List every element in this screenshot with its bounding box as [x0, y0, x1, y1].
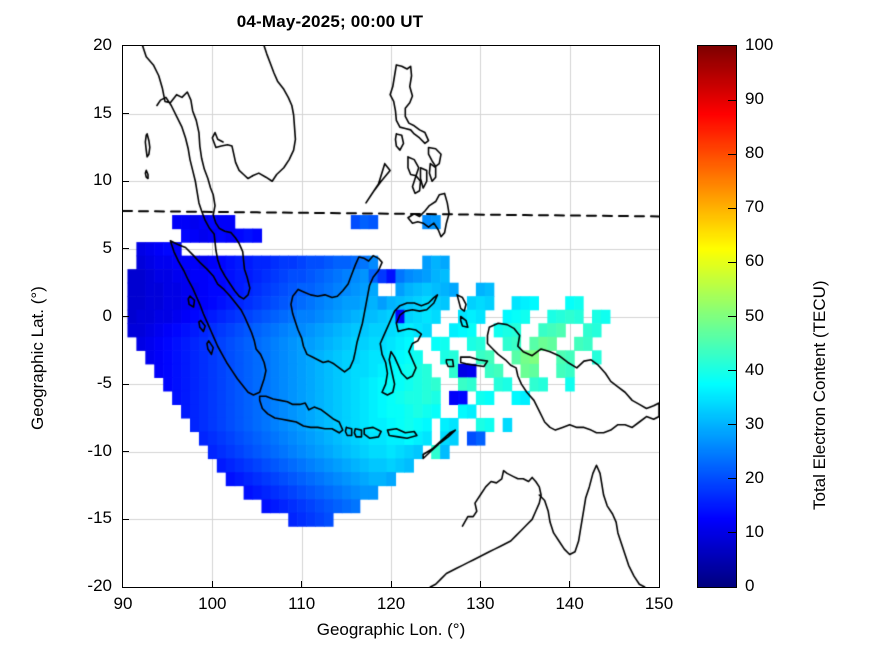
x-tick-mark — [391, 581, 392, 588]
colorbar-tick-mark — [728, 532, 736, 533]
x-tick-mark — [569, 581, 570, 588]
x-tick-label: 130 — [450, 594, 510, 614]
y-tick-mark — [122, 113, 129, 114]
colorbar-title: Total Electron Content (TECU) — [810, 280, 830, 510]
x-tick-label: 120 — [361, 594, 421, 614]
colorbar-tick-mark — [728, 100, 736, 101]
y-tick-label: -5 — [56, 373, 112, 393]
y-tick-mark — [122, 451, 129, 452]
colorbar-tick-label: 70 — [745, 197, 789, 217]
y-tick-mark — [122, 181, 129, 182]
colorbar-tick-mark — [728, 478, 736, 479]
y-tick-label: 15 — [56, 103, 112, 123]
y-tick-mark — [122, 384, 129, 385]
colorbar-tick-mark — [728, 370, 736, 371]
colorbar-tick-label: 20 — [745, 468, 789, 488]
x-tick-label: 100 — [182, 594, 242, 614]
colorbar-tick-label: 50 — [745, 306, 789, 326]
colorbar-tick-label: 90 — [745, 89, 789, 109]
y-tick-mark — [122, 316, 129, 317]
colorbar-tick-label: 60 — [745, 251, 789, 271]
colorbar-tick-label: 40 — [745, 360, 789, 380]
colorbar-tick-mark — [728, 424, 736, 425]
colorbar-tick-label: 10 — [745, 522, 789, 542]
colorbar-tick-mark — [728, 262, 736, 263]
x-axis-title: Geographic Lon. (°) — [122, 620, 660, 640]
x-tick-label: 140 — [540, 594, 600, 614]
y-tick-label: 20 — [56, 35, 112, 55]
colorbar-tick-label: 80 — [745, 143, 789, 163]
x-tick-label: 150 — [629, 594, 689, 614]
y-tick-mark — [122, 248, 129, 249]
colorbar-tick-label: 30 — [745, 414, 789, 434]
tec-heatmap-canvas — [123, 46, 659, 587]
y-tick-label: -20 — [56, 576, 112, 596]
y-tick-mark — [122, 519, 129, 520]
y-tick-label: -15 — [56, 508, 112, 528]
x-tick-mark — [480, 581, 481, 588]
y-tick-label: 5 — [56, 238, 112, 258]
y-tick-label: 0 — [56, 306, 112, 326]
colorbar-tick-mark — [728, 154, 736, 155]
y-axis-title: Geographic Lat. (°) — [28, 286, 48, 430]
y-tick-label: 10 — [56, 170, 112, 190]
colorbar-tick-label: 0 — [745, 576, 789, 596]
x-tick-label: 110 — [272, 594, 332, 614]
colorbar-tick-label: 100 — [745, 35, 789, 55]
colorbar-tick-mark — [728, 208, 736, 209]
x-tick-mark — [212, 581, 213, 588]
y-tick-label: -10 — [56, 441, 112, 461]
colorbar-tick-mark — [728, 316, 736, 317]
page-title: 04-May-2025; 00:00 UT — [0, 12, 660, 32]
x-tick-mark — [301, 581, 302, 588]
x-tick-label: 90 — [93, 594, 153, 614]
map-plot-area — [122, 45, 660, 588]
